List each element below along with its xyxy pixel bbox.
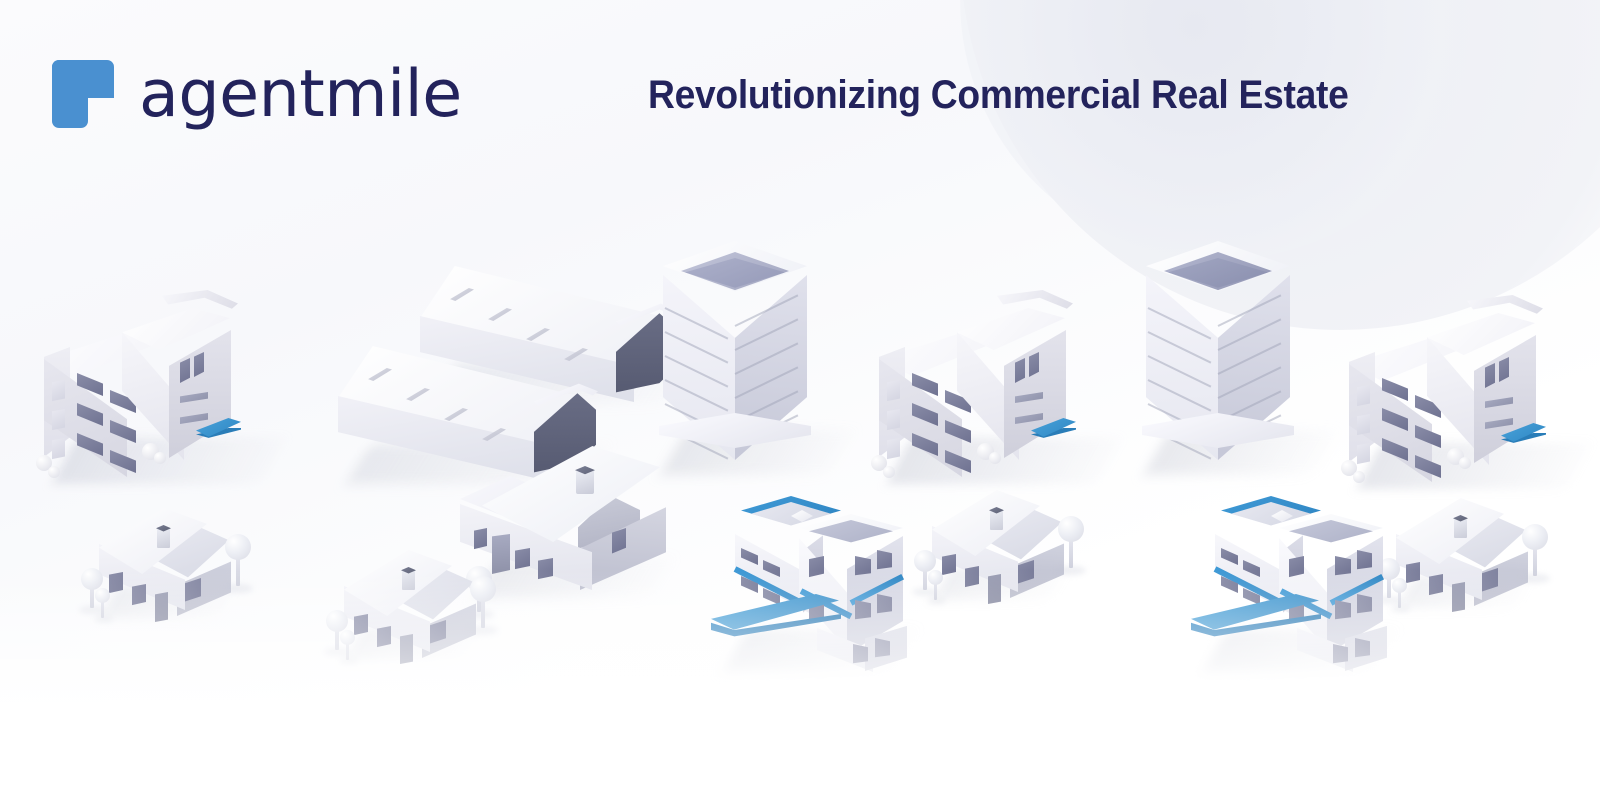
brand-wordmark: agentmile	[139, 62, 462, 127]
bottom-fade-overlay	[0, 570, 1600, 800]
building-tower-2	[1138, 235, 1298, 490]
agentmile-flag-logo-icon	[52, 60, 114, 128]
building-tower-1	[655, 235, 815, 490]
banner-header: agentmile Revolutionizing Commercial Rea…	[0, 0, 1600, 190]
building-office-block-1	[30, 280, 245, 505]
page-title: Revolutionizing Commercial Real Estate	[648, 73, 1349, 117]
banner-canvas: agentmile Revolutionizing Commercial Rea…	[0, 0, 1600, 800]
brand-logo[interactable]: agentmile	[52, 60, 462, 128]
